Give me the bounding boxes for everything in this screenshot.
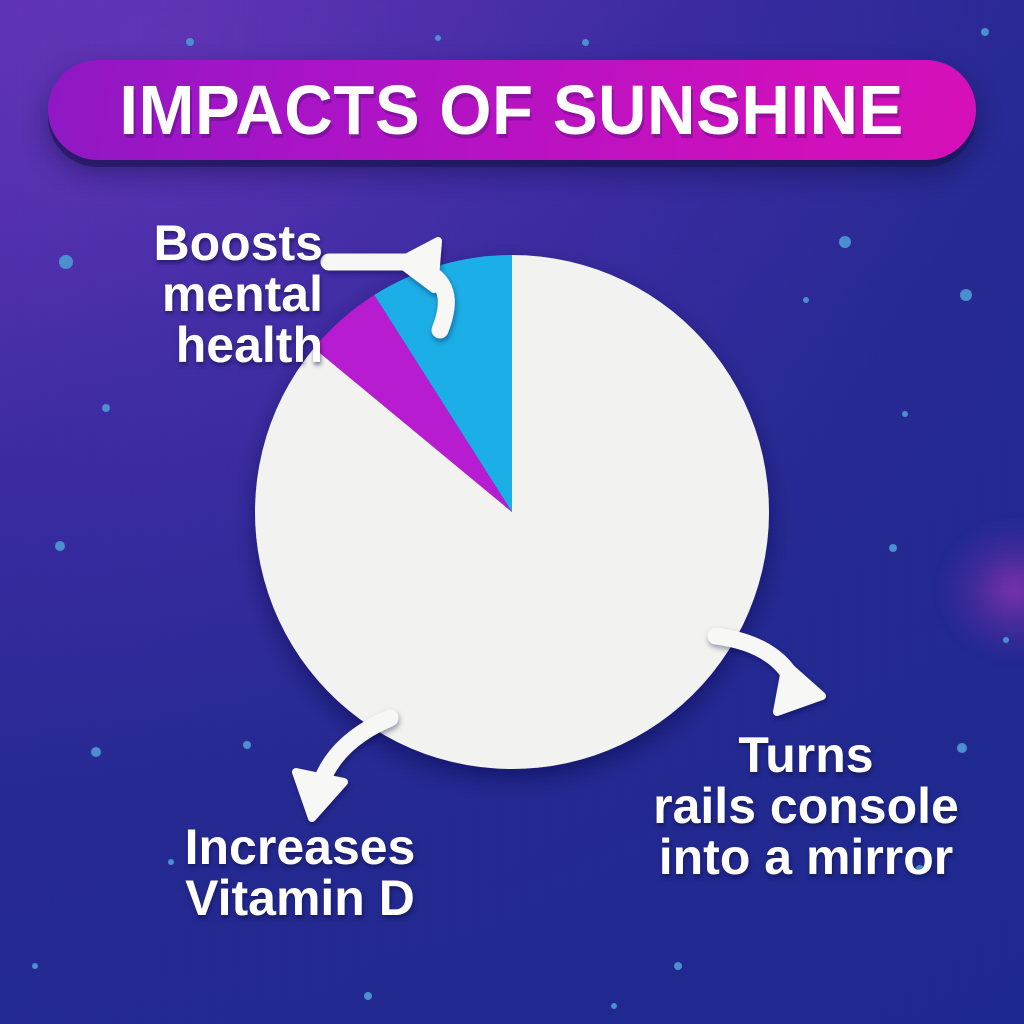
infographic-canvas: IMPACTS OF SUNSHINE [0,0,1024,1024]
page-title: IMPACTS OF SUNSHINE [120,75,904,145]
label-turns-rails-console-into-a-mirror: Turns rails console into a mirror [606,730,1006,883]
title-banner: IMPACTS OF SUNSHINE [48,60,976,160]
label-increases-vitamin-d: Increases Vitamin D [140,822,460,924]
label-boosts-mental-health: Boosts mental health [118,218,323,371]
